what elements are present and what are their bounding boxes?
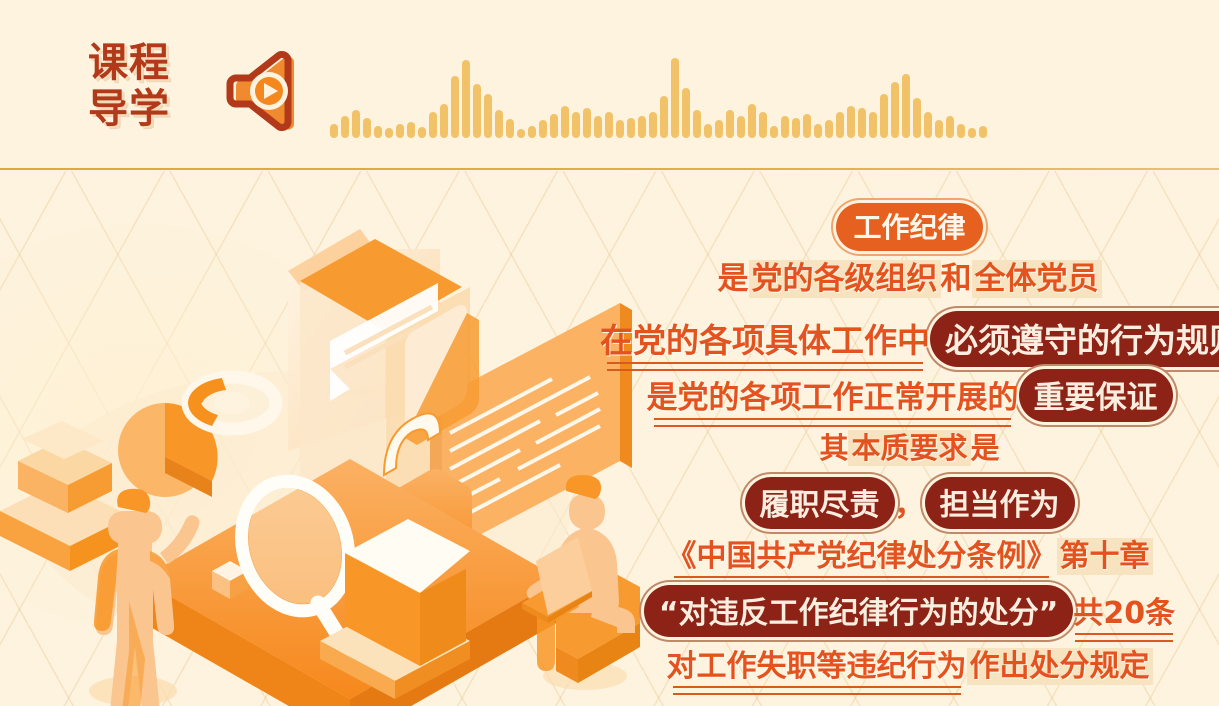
waveform-bar [462, 60, 470, 138]
waveform-bar [440, 104, 448, 138]
underlined-text: 在党的各项具体工作中 [600, 321, 930, 360]
underlined-text: 对工作失职等违纪行为 [667, 649, 967, 684]
waveform-bar [418, 127, 426, 138]
waveform-bar [770, 126, 778, 138]
waveform-bar [341, 116, 349, 138]
underlined-text: 共20条 [1073, 596, 1175, 631]
waveform-bar [605, 112, 613, 138]
waveform-bar [649, 112, 657, 138]
plain-text: 和 [941, 261, 972, 297]
header-divider [0, 168, 1219, 170]
waveform-bar [814, 124, 822, 138]
waveform-bar [517, 129, 525, 138]
line-5: 其本质要求是 [600, 425, 1219, 467]
badge-dark: 重要保证 [1019, 369, 1173, 422]
badge-dark: 履职尽责 [745, 477, 895, 529]
underlined-text: 《中国共产党纪律处分条例》 [667, 539, 1057, 574]
content-area: 工作纪律是党的各级组织和全体党员在党的各项具体工作中必须遵守的行为规则是党的各项… [0, 171, 1219, 706]
waveform-bar [660, 96, 668, 138]
plain-text: ， [895, 488, 925, 523]
waveform-bar [748, 104, 756, 138]
waveform-bar [968, 128, 976, 138]
highlighted-text: 党的各级组织 [749, 260, 941, 298]
line-3: 在党的各项具体工作中必须遵守的行为规则 [600, 311, 1219, 367]
waveform-bar [946, 116, 954, 138]
waveform-bar [902, 74, 910, 138]
waveform-bar [935, 120, 943, 138]
plain-text: 是 [718, 261, 749, 297]
waveform-bar [880, 94, 888, 138]
waveform-bar [781, 116, 789, 138]
waveform-bar [627, 118, 635, 138]
waveform-bar [550, 114, 558, 138]
poster-canvas: 课程 导学 [0, 0, 1219, 706]
waveform-bar [924, 112, 932, 138]
megaphone-icon [222, 48, 314, 136]
waveform-bar [847, 106, 855, 138]
waveform-bar [451, 76, 459, 138]
donut-chart-icon [188, 377, 276, 429]
line-9: 对工作失职等违纪行为作出处分规定 [600, 641, 1219, 685]
line-7: 《中国共产党纪律处分条例》第十章 [600, 531, 1219, 575]
line-title: 工作纪律 [600, 203, 1219, 251]
badge-orange: 工作纪律 [836, 203, 982, 251]
waveform-bar [396, 124, 404, 138]
waveform-bar [979, 126, 987, 138]
waveform-bar [429, 112, 437, 138]
waveform-bar [858, 108, 866, 138]
logo-line-1: 课程 [88, 40, 198, 86]
waveform-bar [583, 108, 591, 138]
highlighted-text: 本质要求 [848, 430, 970, 466]
plain-text: 是 [971, 431, 1000, 465]
text-column: 工作纪律是党的各级组织和全体党员在党的各项具体工作中必须遵守的行为规则是党的各项… [600, 171, 1219, 706]
line-2: 是党的各级组织和全体党员 [600, 253, 1219, 298]
waveform-bar [616, 120, 624, 138]
line-4: 是党的各项工作正常开展的重要保证 [600, 369, 1219, 422]
line-8: “对违反工作纪律行为的处分”共20条 [600, 585, 1219, 637]
waveform-bar [737, 116, 745, 138]
highlighted-text: 作出处分规定 [967, 648, 1153, 685]
badge-dark: “对违反工作纪律行为的处分” [644, 585, 1073, 637]
audio-waveform [330, 34, 1130, 138]
waveform-bar [495, 110, 503, 138]
waveform-bar [693, 110, 701, 138]
isometric-illustration [0, 171, 640, 706]
waveform-bar [407, 122, 415, 138]
waveform-bar [330, 124, 338, 138]
waveform-bar [726, 110, 734, 138]
waveform-bar [385, 128, 393, 138]
waveform-bar [836, 112, 844, 138]
badge-dark: 必须遵守的行为规则 [930, 311, 1219, 367]
waveform-bar [792, 118, 800, 138]
waveform-bar [539, 120, 547, 138]
underlined-text: 是党的各项工作正常开展的 [647, 380, 1019, 416]
waveform-bar [825, 120, 833, 138]
waveform-bar [506, 119, 514, 138]
waveform-bar [572, 112, 580, 138]
highlighted-text: 全体党员 [972, 260, 1102, 298]
waveform-bar [715, 120, 723, 138]
waveform-bar [374, 126, 382, 138]
waveform-bar [561, 106, 569, 138]
waveform-bar [704, 124, 712, 138]
waveform-bar [957, 124, 965, 138]
waveform-bar [638, 116, 646, 138]
waveform-bar [363, 118, 371, 138]
waveform-bar [869, 112, 877, 138]
plain-text: 其 [819, 431, 848, 465]
waveform-bar [803, 114, 811, 138]
waveform-bar [528, 126, 536, 138]
waveform-bar [671, 58, 679, 138]
waveform-bar [682, 88, 690, 138]
line-6: 履职尽责，担当作为 [600, 477, 1219, 529]
waveform-bar [759, 112, 767, 138]
waveform-bar [352, 110, 360, 138]
waveform-bar [594, 116, 602, 138]
course-guide-logo: 课程 导学 [88, 40, 198, 140]
waveform-bar [473, 84, 481, 138]
waveform-bar [891, 82, 899, 138]
highlighted-text: 第十章 [1057, 538, 1153, 575]
waveform-bar [484, 94, 492, 138]
logo-line-2: 导学 [88, 86, 198, 132]
badge-dark: 担当作为 [925, 477, 1075, 529]
header-bar: 课程 导学 [0, 0, 1219, 170]
waveform-bar [913, 98, 921, 138]
